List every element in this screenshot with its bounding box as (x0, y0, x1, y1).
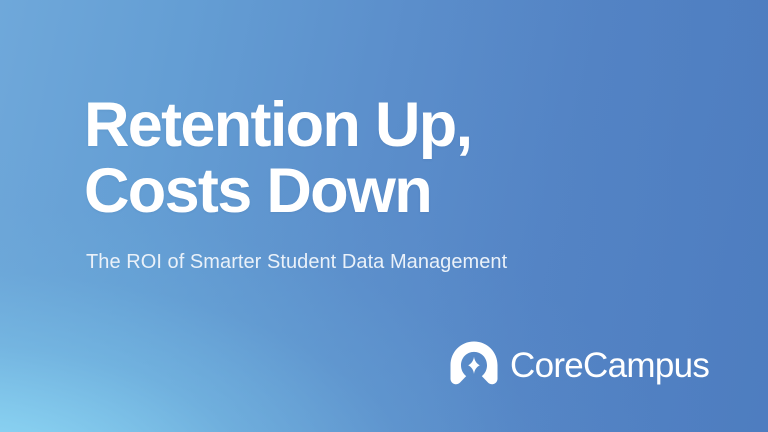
page-title: Retention Up, Costs Down (84, 92, 684, 225)
page-subtitle: The ROI of Smarter Student Data Manageme… (86, 249, 684, 275)
title-slide: Retention Up, Costs Down The ROI of Smar… (0, 0, 768, 432)
brand-logo-lockup: CoreCampus (449, 340, 709, 390)
brand-wordmark: CoreCampus (510, 348, 709, 383)
arch-star-logo-icon (449, 340, 499, 390)
title-block: Retention Up, Costs Down The ROI of Smar… (84, 92, 684, 275)
